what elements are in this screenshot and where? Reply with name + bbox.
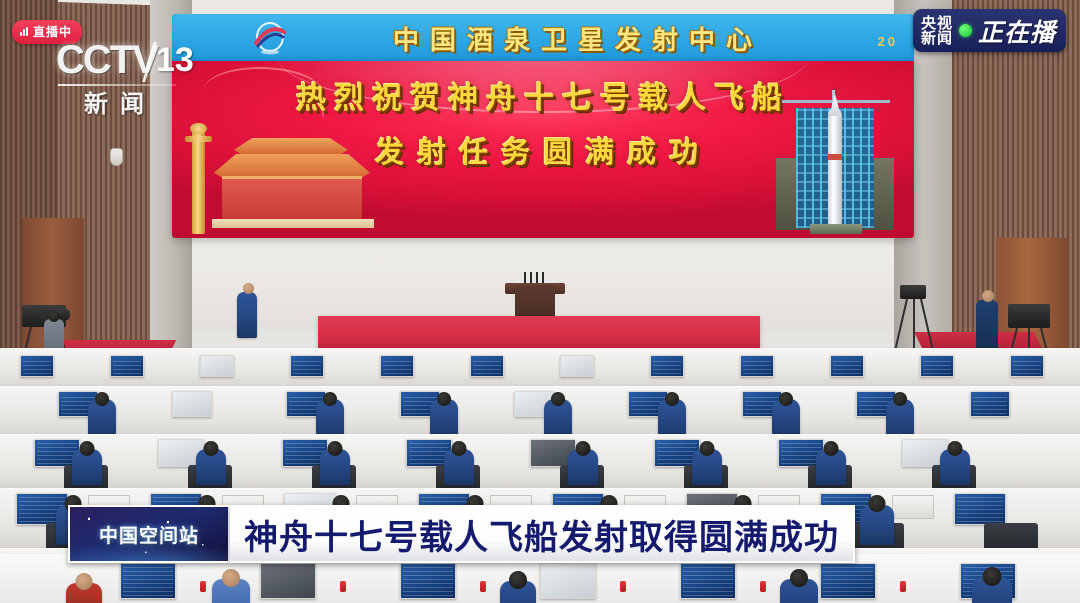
venue-banner-body: 热烈祝贺神舟十七号载人飞船 发射任务圆满成功 [172,61,914,238]
desk-phone-icon [480,581,486,592]
now-playing-label: 正在播 [978,13,1056,49]
desk-phone-icon [620,581,626,592]
channel-number: 13 [156,43,194,77]
venue-banner-header-title: 中国酒泉卫星发射中心 [312,20,844,57]
chyron-headline: 神舟十七号载人飞船发射取得圆满成功 [244,510,839,559]
now-playing-bug: 央视 新闻 正在播 [913,9,1066,52]
venue-banner-year: 20 [878,34,898,49]
console-row [0,434,1080,496]
standing-officer-head [243,283,254,294]
channel-name: 新闻 [84,84,156,119]
jiuquan-launch-center-logo-icon [250,19,290,59]
green-live-dot-icon [959,24,972,37]
golden-flowers-icon [178,216,388,238]
desk-phone-icon [760,581,766,592]
channel-logo-text: CCTV [56,40,157,80]
chyron-headline-box: 神舟十七号载人飞船发射取得圆满成功 [230,505,855,563]
desk-phone-icon [340,581,346,592]
cctv-news-brand: 央视 新闻 [921,16,953,46]
lower-third-chyron: 中国空间站 神舟十七号载人飞船发射取得圆满成功 [68,505,855,563]
rocket-launch-tower-icon [772,84,898,234]
cctv-news-line2: 新闻 [921,31,953,46]
channel-bug: CCTV 13 新闻 [56,40,206,106]
signal-bars-icon [20,27,28,36]
venue-banner: 中国酒泉卫星发射中心 20 热烈祝贺神舟十七号载人飞船 发射任务圆满成功 [172,14,914,238]
wall-speaker-icon [110,148,123,166]
desk-phone-icon [200,581,206,592]
chyron-tag-label: 中国空间站 [99,521,199,548]
broadcast-frame: 中国酒泉卫星发射中心 20 热烈祝贺神舟十七号载人飞船 发射任务圆满成功 [0,0,1080,603]
desk-phone-icon [900,581,906,592]
venue-banner-header: 中国酒泉卫星发射中心 20 [172,14,914,64]
chyron-tag-box: 中国空间站 [68,505,230,563]
